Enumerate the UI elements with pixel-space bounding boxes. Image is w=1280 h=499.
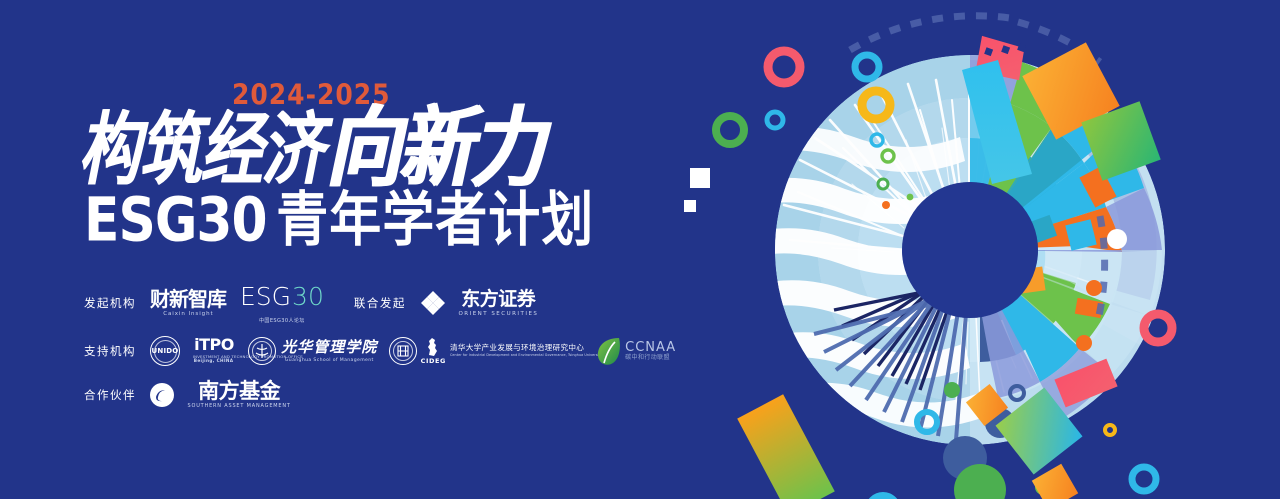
dot-white bbox=[1107, 229, 1127, 249]
subtitle-latin: ESG30 bbox=[84, 184, 267, 255]
logo-southern-asset-management[interactable]: 南方基金 SOUTHERN ASSET MANAGEMENT bbox=[150, 381, 295, 409]
logo-guanghua-main: 光华管理学院 bbox=[281, 340, 377, 355]
credit-row: 支持机构 UNIDO iTPO INVESTMENT AND TECHNOLOG… bbox=[84, 334, 644, 368]
logo-itpo-main: iTPO bbox=[194, 337, 234, 353]
logo-southern-sub: SOUTHERN ASSET MANAGEMENT bbox=[187, 404, 290, 409]
logo-itpo[interactable]: iTPO INVESTMENT AND TECHNOLOGY PROMOTION… bbox=[191, 337, 237, 364]
logo-ccnaa-sub: 碳中和行动联盟 bbox=[625, 355, 670, 361]
credit-row: 合作伙伴 南方基金 SOUTHERN ASSET MANAGEMENT bbox=[84, 378, 644, 412]
logo-caixin-insight[interactable]: 财新智库 Caixin Insight bbox=[150, 289, 226, 317]
dot-orange-2 bbox=[1076, 335, 1092, 351]
logo-itpo-sub2: Beijing, CHINA bbox=[194, 360, 234, 364]
credit-label-initiators: 发起机构 bbox=[84, 295, 150, 311]
subtitle-cn: 青年学者计划 bbox=[276, 172, 594, 258]
ring-cyan-right-bottom bbox=[1132, 467, 1156, 491]
logo-guanghua-sub: Guanghua School of Management bbox=[285, 358, 374, 363]
logo-ccnaa-main: CCNAA bbox=[625, 341, 676, 354]
credit-label-supporters: 支持机构 bbox=[84, 343, 150, 359]
cideg-mark: CIDEG bbox=[421, 337, 446, 365]
logo-esg30-sub: 中国ESG30人论坛 bbox=[259, 316, 305, 323]
logo-esg30-main: ESG bbox=[240, 282, 291, 311]
cideg-tower-icon bbox=[425, 337, 441, 357]
logo-unido[interactable]: UNIDO bbox=[150, 336, 180, 366]
tsinghua-university-seal-icon bbox=[389, 337, 417, 365]
logo-cideg-mark-text: CIDEG bbox=[421, 358, 446, 365]
headline-block: 2024-2025 构筑经济 向新力 ESG30 青年学者计划 发起机构 财新智… bbox=[0, 0, 700, 499]
ring-cyan-top bbox=[855, 55, 879, 79]
logo-orient-main: 东方证券 bbox=[461, 290, 535, 309]
credits-block: 发起机构 财新智库 Caixin Insight ESG 30 bbox=[84, 282, 644, 422]
ring-yellow-tiny bbox=[1105, 425, 1115, 435]
logo-cideg-main: 清华大学产业发展与环境治理研究中心 bbox=[450, 344, 584, 352]
ring-green bbox=[716, 116, 744, 144]
logo-cideg-sub: Center for Industrial Development and En… bbox=[450, 354, 559, 357]
logo-southern-main: 南方基金 bbox=[198, 381, 280, 402]
leaf-icon bbox=[595, 336, 623, 366]
logo-guanghua[interactable]: 光华管理学院 Guanghua School of Management bbox=[248, 337, 378, 365]
logo-orient-securities[interactable]: 东方证券 ORIENT SECURITIES bbox=[420, 290, 542, 317]
ring-cyan-small bbox=[767, 112, 783, 128]
logo-caixin-main: 财新智库 bbox=[150, 289, 226, 309]
poster-canvas: 2024-2025 构筑经济 向新力 ESG30 青年学者计划 发起机构 财新智… bbox=[0, 0, 1280, 499]
logo-unido-main: UNIDO bbox=[152, 347, 179, 355]
ring-pink-right bbox=[1144, 314, 1172, 342]
logo-esg30-accent: 30 bbox=[292, 282, 324, 311]
credit-row: 发起机构 财新智库 Caixin Insight ESG 30 bbox=[84, 282, 644, 324]
logo-orient-sub: ORIENT SECURITIES bbox=[458, 311, 538, 317]
dot-green bbox=[944, 382, 960, 398]
credit-label-co-initiator: 联合发起 bbox=[354, 295, 406, 311]
unido-globe-icon: UNIDO bbox=[150, 336, 180, 366]
ring-pink bbox=[768, 51, 800, 83]
credit-label-partners: 合作伙伴 bbox=[84, 387, 150, 403]
logo-caixin-sub: Caixin Insight bbox=[163, 311, 213, 317]
logo-cideg[interactable]: CIDEG 清华大学产业发展与环境治理研究中心 Center for Indus… bbox=[389, 337, 585, 365]
peking-university-seal-icon bbox=[248, 337, 276, 365]
southern-fund-swirl-icon bbox=[150, 383, 174, 407]
logo-esg30[interactable]: ESG 30 中国ESG30人论坛 bbox=[240, 282, 324, 324]
page-subtitle: ESG30 青年学者计划 bbox=[84, 182, 594, 257]
dot-orange bbox=[1086, 280, 1102, 296]
orient-diamond-icon bbox=[420, 290, 446, 316]
logo-ccnaa[interactable]: CCNAA 碳中和行动联盟 bbox=[595, 336, 676, 366]
radial-sunburst-infographic bbox=[680, 0, 1280, 499]
dot-orange-tiny bbox=[882, 201, 890, 209]
